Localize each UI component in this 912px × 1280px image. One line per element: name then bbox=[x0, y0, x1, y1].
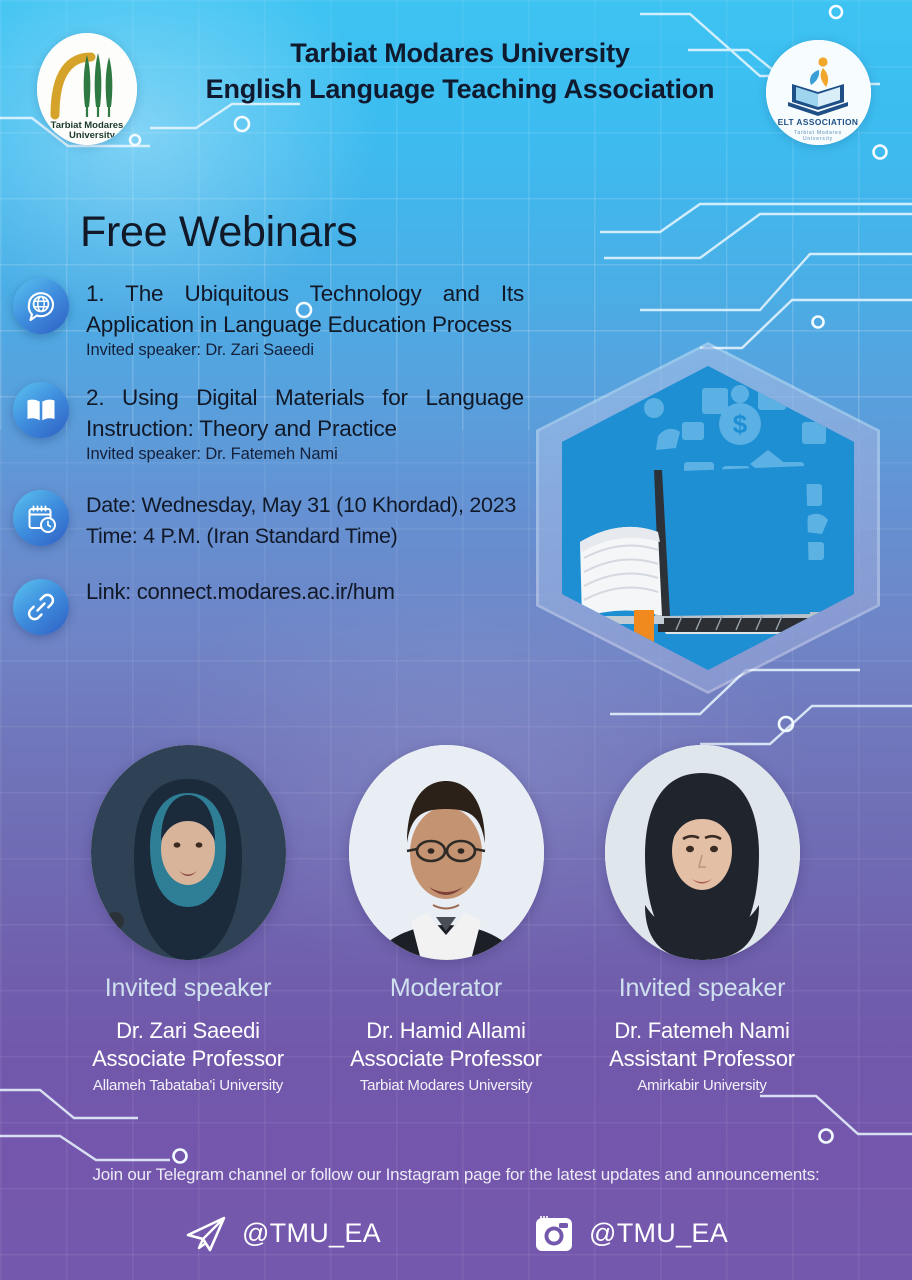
svg-text:$: $ bbox=[733, 409, 748, 439]
webinar-1-title: 1. The Ubiquitous Technology and Its App… bbox=[86, 278, 524, 340]
poster-footer: Join our Telegram channel or follow our … bbox=[0, 1165, 912, 1254]
open-book-icon bbox=[13, 382, 69, 438]
webinar-1-speaker: Invited speaker: Dr. Zari Saeedi bbox=[86, 341, 524, 360]
portrait-hamid-allami bbox=[349, 745, 544, 960]
telegram-link[interactable]: @TMU_EA bbox=[184, 1213, 381, 1253]
elt-logo-text-line3: University bbox=[803, 136, 833, 142]
header-title: Tarbiat Modares University English Langu… bbox=[180, 36, 740, 108]
speaker-rank: Associate Professor bbox=[58, 1045, 318, 1073]
social-links: @TMU_EA @TMU_EA bbox=[0, 1212, 912, 1254]
date-time-item: Date: Wednesday, May 31 (10 Khordad), 20… bbox=[0, 490, 560, 551]
speaker-affiliation: Tarbiat Modares University bbox=[316, 1077, 576, 1094]
instagram-icon bbox=[533, 1212, 575, 1254]
telegram-handle: @TMU_EA bbox=[242, 1218, 381, 1249]
speaker-name: Dr. Fatemeh Nami bbox=[572, 1017, 832, 1045]
speaker-affiliation: Allameh Tabataba'i University bbox=[58, 1077, 318, 1094]
chain-link-icon bbox=[13, 579, 69, 635]
elt-association-logo: ELT ASSOCIATION Tarbiat Modares Universi… bbox=[766, 40, 871, 145]
speaker-card: Moderator Dr. Hamid Allami Associate Pro… bbox=[316, 745, 576, 1094]
speaker-affiliation: Amirkabir University bbox=[572, 1077, 832, 1094]
calendar-clock-icon bbox=[13, 490, 69, 546]
speaker-rank: Assistant Professor bbox=[572, 1045, 832, 1073]
speaker-role: Invited speaker bbox=[58, 974, 318, 1003]
webinar-time: Time: 4 P.M. (Iran Standard Time) bbox=[86, 521, 524, 552]
tmu-logo-text-line2: University bbox=[69, 130, 116, 141]
webinar-2-title: 2. Using Digital Materials for Language … bbox=[86, 382, 524, 444]
instagram-handle: @TMU_EA bbox=[589, 1218, 728, 1249]
speaker-rank: Associate Professor bbox=[316, 1045, 576, 1073]
globe-speech-bubble-icon bbox=[13, 278, 69, 334]
portrait-fatemeh-nami bbox=[605, 745, 800, 960]
webinar-item-1: 1. The Ubiquitous Technology and Its App… bbox=[0, 278, 560, 360]
speaker-name: Dr. Zari Saeedi bbox=[58, 1017, 318, 1045]
tarbiat-modares-university-logo: Tarbiat Modares University bbox=[37, 33, 137, 145]
portrait-zari-saeedi bbox=[91, 745, 286, 960]
hexagon-graphic: $ $ bbox=[518, 338, 898, 700]
speaker-name: Dr. Hamid Allami bbox=[316, 1017, 576, 1045]
instagram-link[interactable]: @TMU_EA bbox=[533, 1212, 728, 1254]
webinar-info-list: 1. The Ubiquitous Technology and Its App… bbox=[0, 278, 560, 641]
webinar-date: Date: Wednesday, May 31 (10 Khordad), 20… bbox=[86, 490, 524, 521]
header-title-line1: Tarbiat Modares University bbox=[180, 36, 740, 72]
speaker-card: Invited speaker Dr. Fatemeh Nami Assista… bbox=[572, 745, 832, 1094]
webinar-item-2: 2. Using Digital Materials for Language … bbox=[0, 382, 560, 464]
link-item: Link: connect.modares.ac.ir/hum bbox=[0, 579, 560, 635]
poster-header: Tarbiat Modares University ELT ASSOCIATI… bbox=[0, 0, 912, 160]
webinar-link[interactable]: Link: connect.modares.ac.ir/hum bbox=[86, 579, 524, 605]
speaker-role: Moderator bbox=[316, 974, 576, 1003]
webinar-2-speaker: Invited speaker: Dr. Fatemeh Nami bbox=[86, 445, 524, 464]
footer-note: Join our Telegram channel or follow our … bbox=[0, 1165, 912, 1185]
header-title-line2: English Language Teaching Association bbox=[180, 72, 740, 108]
telegram-icon bbox=[184, 1213, 228, 1253]
speaker-role: Invited speaker bbox=[572, 974, 832, 1003]
page-title: Free Webinars bbox=[80, 208, 357, 257]
poster-root: Tarbiat Modares University ELT ASSOCIATI… bbox=[0, 0, 912, 1280]
elt-logo-text-line1: ELT ASSOCIATION bbox=[778, 117, 859, 127]
speaker-card: Invited speaker Dr. Zari Saeedi Associat… bbox=[58, 745, 318, 1094]
